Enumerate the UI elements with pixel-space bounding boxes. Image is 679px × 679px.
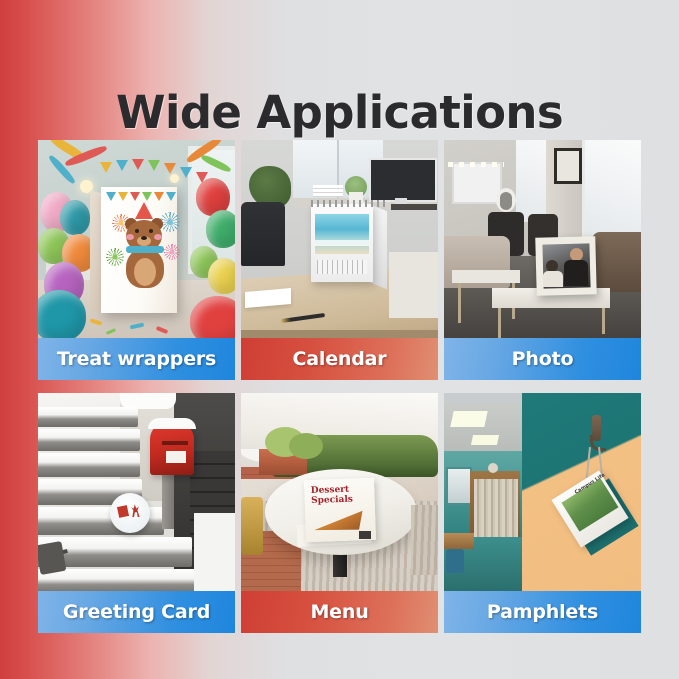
tile-image-greeting-card bbox=[38, 393, 235, 591]
menu-headline: Dessert Specials bbox=[311, 484, 372, 506]
tile-photo[interactable]: Photo bbox=[444, 140, 641, 380]
tile-image-menu: Dessert Specials bbox=[241, 393, 438, 591]
tile-image-pamphlets: Campus Life bbox=[444, 393, 641, 591]
tile-label-pamphlets: Pamphlets bbox=[444, 591, 641, 633]
tile-label-photo: Photo bbox=[444, 338, 641, 380]
tile-greeting-card[interactable]: Greeting Card bbox=[38, 393, 235, 633]
tile-image-calendar bbox=[241, 140, 438, 338]
tile-calendar[interactable]: Calendar bbox=[241, 140, 438, 380]
tile-label-menu: Menu bbox=[241, 591, 438, 633]
applications-grid: Treat wrappers bbox=[38, 140, 641, 633]
tile-label-greeting-card: Greeting Card bbox=[38, 591, 235, 633]
tile-treat-wrappers[interactable]: Treat wrappers bbox=[38, 140, 235, 380]
page-title: Wide Applications bbox=[116, 90, 563, 135]
tile-pamphlets[interactable]: Campus Life Pamphlets bbox=[444, 393, 641, 633]
tile-image-treat-wrappers bbox=[38, 140, 235, 338]
tile-menu[interactable]: Dessert Specials Menu bbox=[241, 393, 438, 633]
tile-label-calendar: Calendar bbox=[241, 338, 438, 380]
tile-label-treat-wrappers: Treat wrappers bbox=[38, 338, 235, 380]
tile-image-photo bbox=[444, 140, 641, 338]
poster-canvas: Wide Applications bbox=[0, 0, 679, 679]
